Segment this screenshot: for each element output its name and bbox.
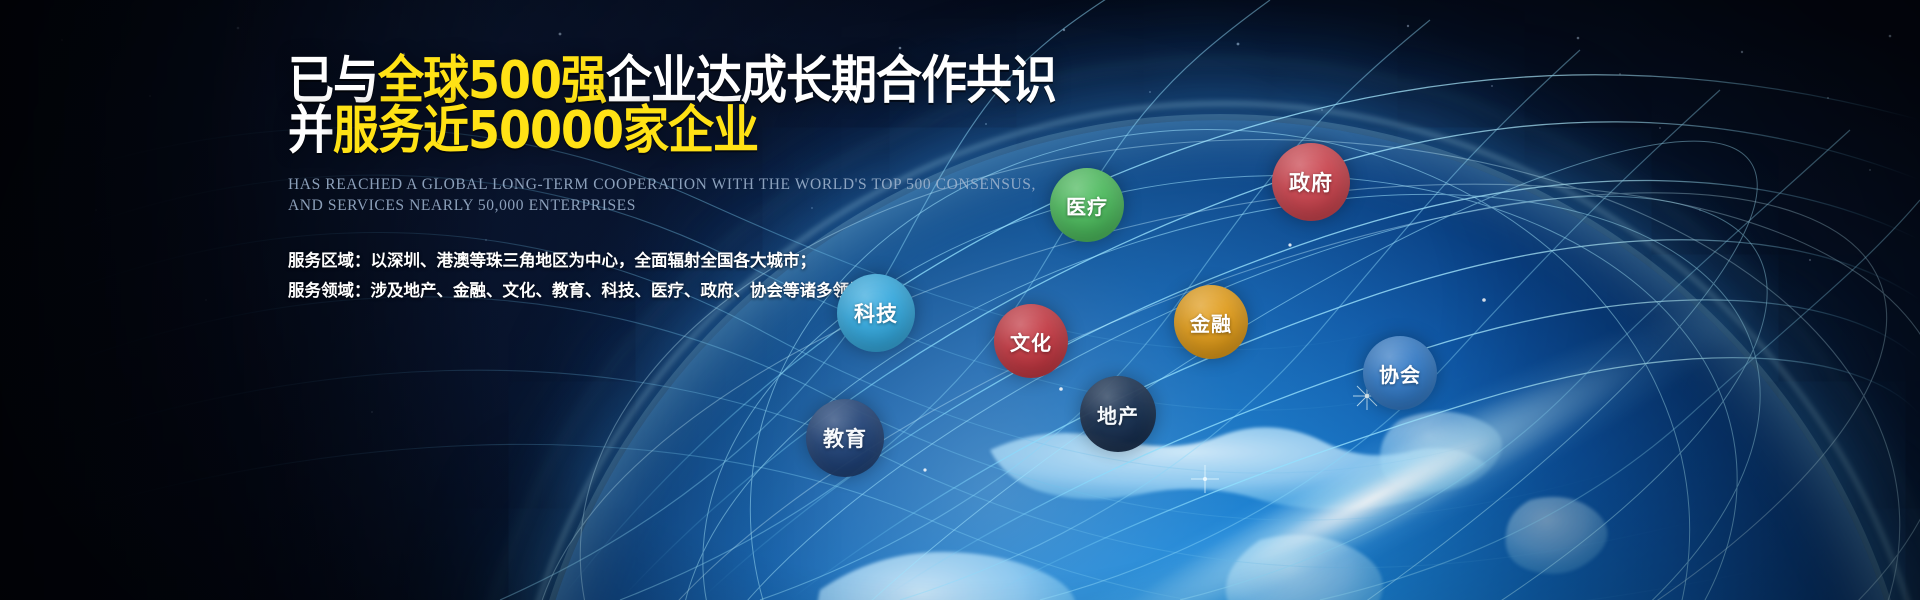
subtitle-line-2: AND SERVICES NEARLY 50,000 ENTERPRISES	[288, 195, 1048, 216]
industry-badge-label: 科技	[854, 298, 898, 328]
industry-badge-教育[interactable]: 教育	[806, 399, 884, 477]
industry-badge-医疗[interactable]: 医疗	[1050, 168, 1124, 242]
subtitle-block: HAS REACHED A GLOBAL LONG-TERM COOPERATI…	[288, 174, 1048, 216]
industry-badge-协会[interactable]: 协会	[1363, 336, 1437, 410]
industry-badge-地产[interactable]: 地产	[1080, 376, 1156, 452]
industry-badge-金融[interactable]: 金融	[1174, 285, 1248, 359]
industry-badge-科技[interactable]: 科技	[837, 274, 915, 352]
body-line-service-area: 服务区域：以深圳、港澳等珠三角地区为中心，全面辐射全国各大城市；	[288, 246, 1048, 276]
industry-badge-label: 政府	[1289, 167, 1333, 197]
industry-badge-label: 文化	[1010, 327, 1052, 356]
headline-l2-part-2: 服务近50000家企业	[333, 100, 758, 160]
subtitle-line-1: HAS REACHED A GLOBAL LONG-TERM COOPERATI…	[288, 174, 1048, 195]
industry-badge-label: 地产	[1097, 400, 1139, 429]
industry-badge-文化[interactable]: 文化	[994, 304, 1068, 378]
industry-badge-label: 协会	[1379, 359, 1421, 388]
industry-badge-政府[interactable]: 政府	[1272, 143, 1350, 221]
body-line-service-fields: 服务领域：涉及地产、金融、文化、教育、科技、医疗、政府、协会等诸多领域。	[288, 276, 1048, 306]
headline-l2-part-1: 并	[288, 100, 333, 160]
industry-badge-label: 医疗	[1066, 191, 1108, 220]
headline-line-2: 并服务近50000家企业	[288, 102, 1048, 158]
body-block: 服务区域：以深圳、港澳等珠三角地区为中心，全面辐射全国各大城市； 服务领域：涉及…	[288, 246, 1048, 306]
industry-badge-label: 金融	[1190, 308, 1232, 337]
copy-block: 已与全球500强企业达成长期合作共识 并服务近50000家企业 HAS REAC…	[288, 52, 1048, 306]
hero-banner: 已与全球500强企业达成长期合作共识 并服务近50000家企业 HAS REAC…	[0, 0, 1920, 600]
industry-badge-label: 教育	[823, 423, 867, 453]
